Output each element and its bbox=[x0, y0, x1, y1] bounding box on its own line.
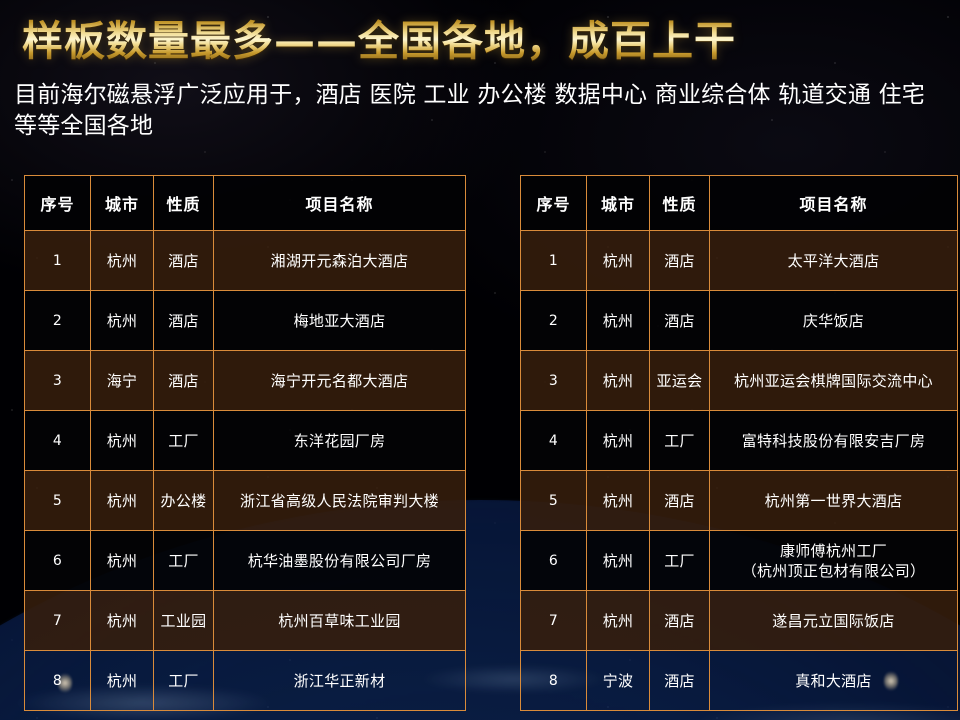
cell-type: 工厂 bbox=[650, 531, 710, 591]
cell-city: 杭州 bbox=[587, 291, 650, 351]
cell-project-name: 杭华油墨股份有限公司厂房 bbox=[214, 531, 466, 591]
cell-seq: 2 bbox=[521, 291, 587, 351]
table-row: 2杭州酒店梅地亚大酒店 bbox=[25, 291, 466, 351]
cell-city: 海宁 bbox=[91, 351, 154, 411]
cell-project-name: 富特科技股份有限安吉厂房 bbox=[710, 411, 958, 471]
cell-project-name: 浙江省高级人民法院审判大楼 bbox=[214, 471, 466, 531]
cell-project-name: 真和大酒店 bbox=[710, 651, 958, 711]
cell-seq: 7 bbox=[521, 591, 587, 651]
slide-root: 样板数量最多——全国各地，成百上干 目前海尔磁悬浮广泛应用于，酒店 医院 工业 … bbox=[0, 0, 960, 720]
table-row: 4杭州工厂富特科技股份有限安吉厂房 bbox=[521, 411, 958, 471]
cell-city: 杭州 bbox=[91, 291, 154, 351]
cell-city: 杭州 bbox=[587, 411, 650, 471]
cell-type: 酒店 bbox=[154, 231, 214, 291]
cell-city: 杭州 bbox=[91, 591, 154, 651]
cell-type: 酒店 bbox=[154, 351, 214, 411]
table-header-row: 序号 城市 性质 项目名称 bbox=[25, 176, 466, 231]
cell-seq: 4 bbox=[25, 411, 91, 471]
cell-seq: 5 bbox=[521, 471, 587, 531]
table-row: 1杭州酒店湘湖开元森泊大酒店 bbox=[25, 231, 466, 291]
column-header-city: 城市 bbox=[587, 176, 650, 231]
cell-project-name: 浙江华正新材 bbox=[214, 651, 466, 711]
cell-seq: 6 bbox=[25, 531, 91, 591]
cell-seq: 8 bbox=[25, 651, 91, 711]
cell-seq: 1 bbox=[25, 231, 91, 291]
table-row: 7杭州酒店遂昌元立国际饭店 bbox=[521, 591, 958, 651]
cell-project-name: 遂昌元立国际饭店 bbox=[710, 591, 958, 651]
cell-type: 酒店 bbox=[650, 591, 710, 651]
cell-type: 工厂 bbox=[154, 651, 214, 711]
cell-type: 办公楼 bbox=[154, 471, 214, 531]
table-row: 5杭州酒店杭州第一世界大酒店 bbox=[521, 471, 958, 531]
column-header-city: 城市 bbox=[91, 176, 154, 231]
cell-city: 杭州 bbox=[587, 471, 650, 531]
table-row: 2杭州酒店庆华饭店 bbox=[521, 291, 958, 351]
cell-project-name: 杭州第一世界大酒店 bbox=[710, 471, 958, 531]
projects-table-right: 序号 城市 性质 项目名称 1杭州酒店太平洋大酒店2杭州酒店庆华饭店3杭州亚运会… bbox=[520, 175, 958, 711]
cell-project-name: 东洋花园厂房 bbox=[214, 411, 466, 471]
cell-seq: 5 bbox=[25, 471, 91, 531]
column-header-name: 项目名称 bbox=[214, 176, 466, 231]
table-row: 3杭州亚运会杭州亚运会棋牌国际交流中心 bbox=[521, 351, 958, 411]
cell-city: 杭州 bbox=[587, 351, 650, 411]
cell-project-name: 太平洋大酒店 bbox=[710, 231, 958, 291]
column-header-seq: 序号 bbox=[521, 176, 587, 231]
cell-project-name: 庆华饭店 bbox=[710, 291, 958, 351]
cell-project-name: 杭州亚运会棋牌国际交流中心 bbox=[710, 351, 958, 411]
cell-city: 杭州 bbox=[587, 591, 650, 651]
cell-project-name: 海宁开元名都大酒店 bbox=[214, 351, 466, 411]
cell-city: 杭州 bbox=[91, 411, 154, 471]
cell-seq: 8 bbox=[521, 651, 587, 711]
cell-seq: 3 bbox=[25, 351, 91, 411]
cell-project-name: 杭州百草味工业园 bbox=[214, 591, 466, 651]
cell-type: 酒店 bbox=[650, 471, 710, 531]
cell-type: 酒店 bbox=[650, 651, 710, 711]
title-container: 样板数量最多——全国各地，成百上干 bbox=[22, 14, 922, 68]
cell-type: 酒店 bbox=[650, 291, 710, 351]
cell-city: 杭州 bbox=[91, 531, 154, 591]
table-left-header: 序号 城市 性质 项目名称 bbox=[25, 176, 466, 231]
subtitle-text: 目前海尔磁悬浮广泛应用于，酒店 医院 工业 办公楼 数据中心 商业综合体 轨道交… bbox=[14, 80, 944, 142]
table-row: 4杭州工厂东洋花园厂房 bbox=[25, 411, 466, 471]
column-header-type: 性质 bbox=[154, 176, 214, 231]
cell-type: 工业园 bbox=[154, 591, 214, 651]
table-row: 6杭州工厂杭华油墨股份有限公司厂房 bbox=[25, 531, 466, 591]
cell-city: 杭州 bbox=[91, 471, 154, 531]
cell-city: 杭州 bbox=[587, 231, 650, 291]
cell-project-name: 梅地亚大酒店 bbox=[214, 291, 466, 351]
cell-city: 杭州 bbox=[91, 651, 154, 711]
cell-seq: 2 bbox=[25, 291, 91, 351]
table-right-body: 1杭州酒店太平洋大酒店2杭州酒店庆华饭店3杭州亚运会杭州亚运会棋牌国际交流中心4… bbox=[521, 231, 958, 711]
cell-project-name: 湘湖开元森泊大酒店 bbox=[214, 231, 466, 291]
column-header-type: 性质 bbox=[650, 176, 710, 231]
cell-type: 酒店 bbox=[154, 291, 214, 351]
cell-type: 酒店 bbox=[650, 231, 710, 291]
table-row: 8宁波酒店真和大酒店 bbox=[521, 651, 958, 711]
cell-seq: 3 bbox=[521, 351, 587, 411]
table-row: 3海宁酒店海宁开元名都大酒店 bbox=[25, 351, 466, 411]
cell-type: 亚运会 bbox=[650, 351, 710, 411]
cell-seq: 6 bbox=[521, 531, 587, 591]
table-right-header: 序号 城市 性质 项目名称 bbox=[521, 176, 958, 231]
page-title: 样板数量最多——全国各地，成百上干 bbox=[22, 14, 922, 68]
cell-seq: 7 bbox=[25, 591, 91, 651]
cell-seq: 1 bbox=[521, 231, 587, 291]
cell-type: 工厂 bbox=[154, 531, 214, 591]
projects-table-left: 序号 城市 性质 项目名称 1杭州酒店湘湖开元森泊大酒店2杭州酒店梅地亚大酒店3… bbox=[24, 175, 466, 711]
table-row: 6杭州工厂康师傅杭州工厂（杭州顶正包材有限公司） bbox=[521, 531, 958, 591]
cell-type: 工厂 bbox=[154, 411, 214, 471]
table-row: 1杭州酒店太平洋大酒店 bbox=[521, 231, 958, 291]
cell-city: 杭州 bbox=[587, 531, 650, 591]
cell-city: 杭州 bbox=[91, 231, 154, 291]
column-header-seq: 序号 bbox=[25, 176, 91, 231]
column-header-name: 项目名称 bbox=[710, 176, 958, 231]
table-header-row: 序号 城市 性质 项目名称 bbox=[521, 176, 958, 231]
cell-city: 宁波 bbox=[587, 651, 650, 711]
table-left-body: 1杭州酒店湘湖开元森泊大酒店2杭州酒店梅地亚大酒店3海宁酒店海宁开元名都大酒店4… bbox=[25, 231, 466, 711]
table-row: 8杭州工厂浙江华正新材 bbox=[25, 651, 466, 711]
table-row: 7杭州工业园杭州百草味工业园 bbox=[25, 591, 466, 651]
table-row: 5杭州办公楼浙江省高级人民法院审判大楼 bbox=[25, 471, 466, 531]
cell-type: 工厂 bbox=[650, 411, 710, 471]
cell-project-name: 康师傅杭州工厂（杭州顶正包材有限公司） bbox=[710, 531, 958, 591]
cell-seq: 4 bbox=[521, 411, 587, 471]
